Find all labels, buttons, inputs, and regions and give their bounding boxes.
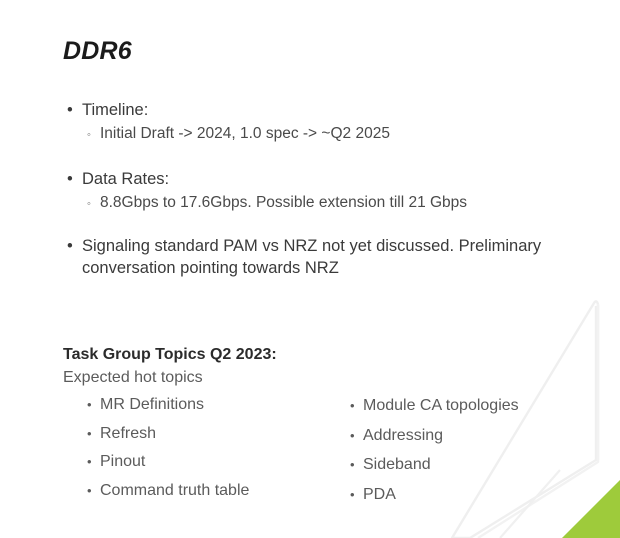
- list-item: • PDA: [350, 480, 600, 509]
- task-group-columns: • MR Definitions • Refresh • Pinout • Co…: [63, 391, 583, 511]
- list-item-label: PDA: [363, 486, 396, 503]
- bullet-signaling-label: Signaling standard PAM vs NRZ not yet di…: [82, 237, 541, 277]
- bullet-marker-icon: •: [67, 236, 73, 258]
- slide-canvas: DDR6 • Timeline: ◦ Initial Draft -> 2024…: [0, 0, 620, 538]
- bullet-marker-icon: •: [350, 391, 355, 420]
- list-item: • Sideband: [350, 450, 600, 479]
- bullet-data-rates: • Data Rates:: [63, 169, 578, 191]
- list-item: • Pinout: [87, 448, 342, 476]
- list-item-label: MR Definitions: [100, 396, 204, 413]
- spacer: [63, 145, 578, 169]
- bullet-timeline-label: Timeline:: [82, 101, 148, 119]
- bullet-data-rates-label: Data Rates:: [82, 170, 169, 188]
- bullet-marker-icon: •: [67, 169, 73, 191]
- list-item-label: Command truth table: [100, 482, 249, 499]
- bullet-body: • Timeline: ◦ Initial Draft -> 2024, 1.0…: [63, 100, 578, 282]
- bullet-marker-icon: •: [87, 391, 92, 419]
- sub-bullet-marker-icon: ◦: [87, 125, 91, 146]
- bullet-marker-icon: •: [350, 421, 355, 450]
- task-group-right-column: • Module CA topologies • Addressing • Si…: [350, 391, 600, 509]
- bullet-data-rates-detail: ◦ 8.8Gbps to 17.6Gbps. Possible extensio…: [63, 193, 578, 214]
- page-title: DDR6: [63, 38, 132, 66]
- task-group-heading: Task Group Topics Q2 2023:: [63, 344, 583, 366]
- list-item: • Refresh: [87, 420, 342, 448]
- list-item: • MR Definitions: [87, 391, 342, 419]
- task-group-left-column: • MR Definitions • Refresh • Pinout • Co…: [87, 391, 342, 505]
- bullet-data-rates-detail-label: 8.8Gbps to 17.6Gbps. Possible extension …: [100, 194, 467, 211]
- bullet-marker-icon: •: [87, 420, 92, 448]
- bullet-marker-icon: •: [67, 100, 73, 122]
- list-item: • Addressing: [350, 421, 600, 450]
- task-group-section: Task Group Topics Q2 2023: Expected hot …: [63, 344, 583, 511]
- sub-bullet-marker-icon: ◦: [87, 194, 91, 215]
- list-item: • Command truth table: [87, 477, 342, 505]
- bullet-marker-icon: •: [350, 450, 355, 479]
- task-group-subheading: Expected hot topics: [63, 367, 583, 389]
- bullet-timeline: • Timeline:: [63, 100, 578, 122]
- bullet-marker-icon: •: [87, 477, 92, 505]
- list-item-label: Module CA topologies: [363, 397, 519, 414]
- list-item-label: Addressing: [363, 427, 443, 444]
- bullet-marker-icon: •: [350, 480, 355, 509]
- spacer: [63, 214, 578, 236]
- list-item-label: Pinout: [100, 453, 145, 470]
- list-item-label: Sideband: [363, 456, 431, 473]
- bullet-signaling: • Signaling standard PAM vs NRZ not yet …: [63, 236, 578, 280]
- bullet-timeline-detail: ◦ Initial Draft -> 2024, 1.0 spec -> ~Q2…: [63, 124, 578, 145]
- list-item: • Module CA topologies: [350, 391, 600, 420]
- bullet-timeline-detail-label: Initial Draft -> 2024, 1.0 spec -> ~Q2 2…: [100, 125, 390, 142]
- bullet-marker-icon: •: [87, 448, 92, 476]
- list-item-label: Refresh: [100, 425, 156, 442]
